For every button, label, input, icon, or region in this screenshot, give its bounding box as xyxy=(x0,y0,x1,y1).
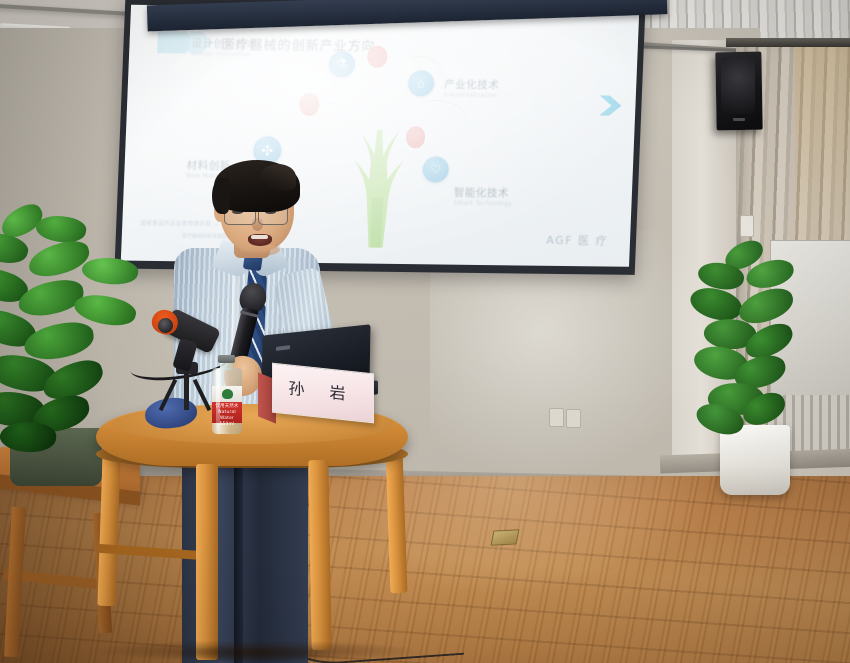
plant-leaf xyxy=(25,237,92,281)
loudspeaker-grille xyxy=(721,58,755,114)
table-leg xyxy=(97,456,120,607)
water-bottle: 饮用天然水 Natural Water 550ml xyxy=(209,358,245,434)
tripod-leg xyxy=(159,379,177,411)
slide-logo: AGF 医 疗 xyxy=(546,232,608,249)
stool-leg xyxy=(4,507,26,658)
chevron-right-icon xyxy=(597,94,624,116)
tree-fruit xyxy=(367,46,388,68)
name-card: 孙 岩 xyxy=(258,368,374,426)
table-leg xyxy=(308,460,331,650)
bottle-highlight xyxy=(216,369,220,431)
presenter-hair-part xyxy=(260,164,296,190)
table-leg xyxy=(386,453,408,594)
photo-scene: 医疗器械的创新产业方向 ⚗ ⌂ ✣ ♡ xyxy=(0,0,850,663)
loudspeaker-badge xyxy=(733,118,745,121)
bottle-brand-mark xyxy=(222,389,233,399)
slide-label-3: 智能化技术 Smart Technology xyxy=(453,185,512,208)
plant-pot-white xyxy=(720,425,790,495)
camcorder-lens xyxy=(158,318,173,333)
tree-fruit xyxy=(406,126,426,148)
presenter-hair-side xyxy=(212,178,230,214)
presenter-teeth xyxy=(251,235,268,239)
potted-plant-right xyxy=(690,235,840,495)
wall-junction-box xyxy=(740,215,754,237)
plant-leaf xyxy=(16,277,87,320)
curtain-rod xyxy=(726,38,850,47)
slide-label-0: 设计创新技术 Design Innovation xyxy=(191,36,258,59)
wall-power-outlet-secondary xyxy=(566,409,581,428)
heartbeat-icon: ♡ xyxy=(422,156,449,182)
wall-power-outlet xyxy=(549,408,564,427)
tripod-leg xyxy=(184,366,189,410)
round-wooden-table xyxy=(88,398,418,663)
slide-label-1: 产业化技术 Industrialization xyxy=(444,77,500,100)
floor-socket-cover xyxy=(491,529,520,546)
plant-leaf xyxy=(80,254,139,288)
bottle-cap xyxy=(218,355,235,363)
table-leg xyxy=(196,464,218,660)
presenter-shadow xyxy=(170,645,340,663)
